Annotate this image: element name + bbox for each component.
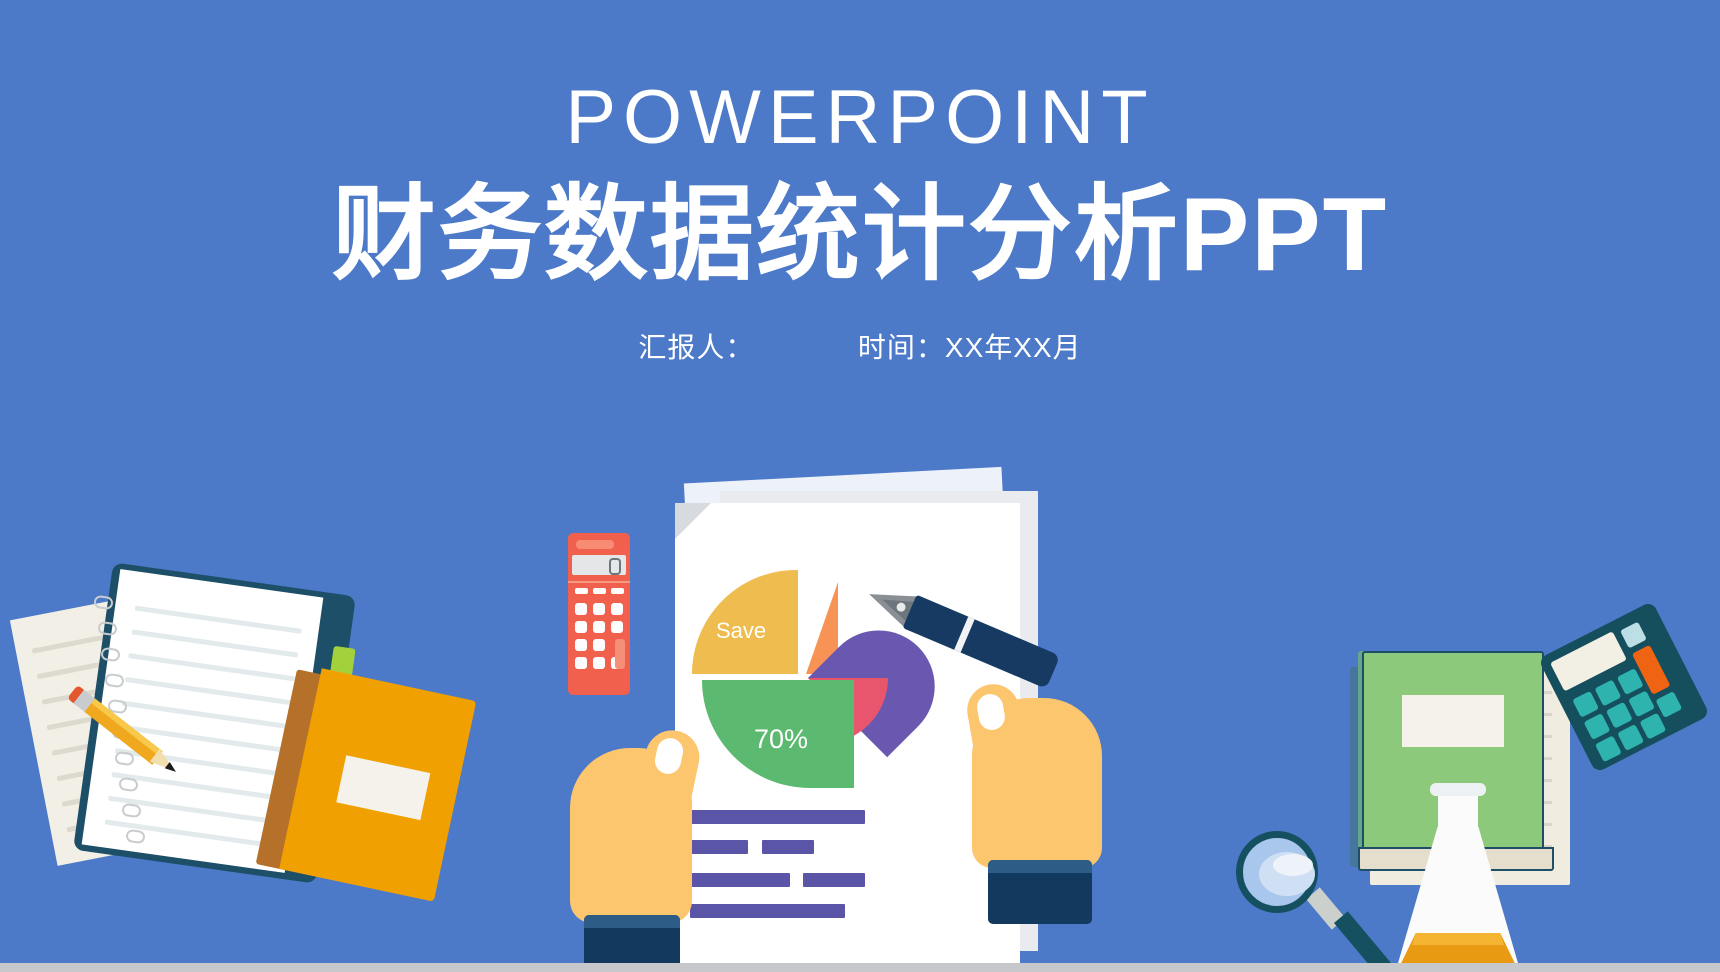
document-fold-corner [675,503,711,539]
hand-left [570,730,700,972]
green-book-label [1402,695,1504,747]
hand-right-cuff-top [988,860,1092,873]
document-text-line [690,904,845,918]
calculator-solar-strip [576,540,614,549]
pie-slice-save: Save [692,570,798,674]
red-calculator [568,533,630,695]
hand-left-cuff-top [584,915,680,928]
bottom-strip [0,963,1720,972]
illustration-right [1210,555,1720,972]
date-label: 时间：XX年XX月 [858,332,1082,363]
magnifying-glass-icon [1230,825,1380,972]
flask-lip [1430,783,1486,796]
presenter-label: 汇报人： [638,332,754,363]
calculator-display [572,555,626,575]
document-text-line [803,873,865,887]
pie-slice-green: 70% [702,680,854,788]
pie-slice-save-label: Save [716,618,766,644]
illustration-center: Save 70% [560,455,1130,972]
document-text-line [690,873,790,887]
illustration-left [20,520,490,900]
kicker-text: POWERPOINT [0,80,1720,156]
hand-right [960,670,1125,970]
document-text-line [762,840,814,854]
title-block: POWERPOINT 财务数据统计分析PPT 汇报人： 时间：XX年XX月 [0,0,1720,366]
calculator-display-digit [609,558,621,575]
magnifier-lens [1236,831,1318,913]
pie-slice-green-label: 70% [754,724,808,755]
meta-line: 汇报人： 时间：XX年XX月 [0,326,1720,366]
magnifier-glint-small [1273,854,1313,876]
presentation-slide: POWERPOINT 财务数据统计分析PPT 汇报人： 时间：XX年XX月 [0,0,1720,972]
erlenmeyer-flask [1380,783,1540,972]
teal-calculator-display [1550,631,1627,691]
calculator-divider [568,581,630,583]
document-text-line [690,810,865,824]
page-title: 财务数据统计分析PPT [0,178,1720,292]
